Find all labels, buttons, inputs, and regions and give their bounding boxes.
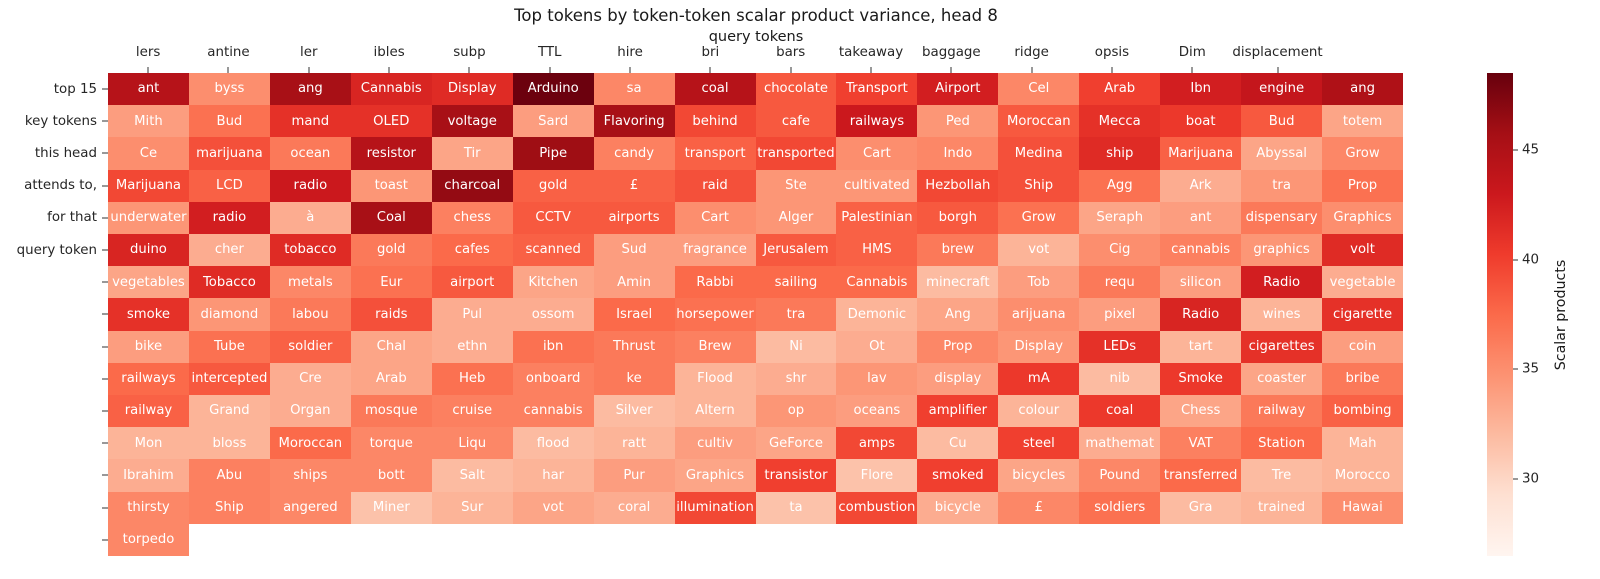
- x-axis-tick-labels: lersantineleriblessubpTTLhirebribarstake…: [108, 45, 1403, 73]
- heatmap-cell: toast: [351, 170, 432, 202]
- heatmap-cell-token: ibn: [543, 340, 563, 353]
- x-tick-label: lers: [108, 45, 188, 60]
- heatmap-cell: ibn: [513, 331, 594, 363]
- heatmap-cell: Cart: [675, 202, 756, 234]
- heatmap-cell: Bud: [189, 105, 270, 137]
- heatmap-cell-token: tra: [787, 308, 806, 321]
- heatmap-cell: candy: [594, 137, 675, 169]
- heatmap-cell: ta: [756, 492, 837, 524]
- heatmap-cell-token: Altern: [695, 404, 735, 417]
- heatmap-cell-token: Ship: [215, 501, 244, 514]
- heatmap-cell: cultiv: [675, 427, 756, 459]
- colorbar-label-text: Scalar products: [1553, 259, 1569, 369]
- heatmap-cell-token: Transport: [846, 82, 908, 95]
- y-tick-5: query token: [0, 234, 108, 266]
- heatmap-cell-token: amplifier: [929, 404, 987, 417]
- heatmap-cell: Hawai: [1322, 492, 1403, 524]
- heatmap-cell-token: vot: [1028, 243, 1049, 256]
- y-tick-label: attends to,: [24, 178, 97, 193]
- heatmap-cell: railway: [1241, 395, 1322, 427]
- heatmap-cell: Graphics: [675, 459, 756, 491]
- heatmap-cell-token: wines: [1263, 308, 1301, 321]
- heatmap-cell-token: ships: [293, 469, 327, 482]
- heatmap-cell: tart: [1160, 331, 1241, 363]
- heatmap-cell-token: Radio: [1182, 308, 1219, 321]
- heatmap-cell: Miner: [351, 492, 432, 524]
- heatmap-cell-token: ta: [789, 501, 802, 514]
- heatmap-cell: mand: [270, 105, 351, 137]
- heatmap-cell: Marijuana: [108, 170, 189, 202]
- heatmap-cell-token: OLED: [373, 115, 409, 128]
- heatmap-cell-token: graphics: [1253, 243, 1309, 256]
- colorbar-tick-0: 30: [1513, 472, 1539, 487]
- heatmap-cell: scanned: [513, 234, 594, 266]
- heatmap-cell-token: coaster: [1257, 372, 1306, 385]
- heatmap-cell-token: Ibn: [1190, 82, 1211, 95]
- heatmap-cell: railways: [836, 105, 917, 137]
- heatmap-cell: dispensary: [1241, 202, 1322, 234]
- heatmap-cell-token: arijuana: [1012, 308, 1066, 321]
- heatmap-cell-token: bicycles: [1012, 469, 1065, 482]
- heatmap-cell: transport: [675, 137, 756, 169]
- heatmap-cell: Pipe: [513, 137, 594, 169]
- heatmap-cell: Cannabis: [351, 73, 432, 105]
- heatmap-cell: transistor: [756, 459, 837, 491]
- heatmap-cell-token: Amin: [617, 276, 651, 289]
- heatmap-cell-token: smoked: [932, 469, 983, 482]
- heatmap-cell-token: combustion: [838, 501, 915, 514]
- heatmap-cell-token: display: [934, 372, 981, 385]
- heatmap-cell: CCTV: [513, 202, 594, 234]
- heatmap-cell-token: Sard: [538, 115, 568, 128]
- heatmap-cell: Flore: [836, 459, 917, 491]
- heatmap-cell: Ship: [189, 492, 270, 524]
- heatmap-cell: Tob: [998, 266, 1079, 298]
- heatmap-cell-token: silicon: [1180, 276, 1222, 289]
- heatmap-cell: Mah: [1322, 427, 1403, 459]
- heatmap-cell: fragrance: [675, 234, 756, 266]
- heatmap-cell-token: marijuana: [196, 147, 263, 160]
- heatmap-cell: bicycles: [998, 459, 1079, 491]
- heatmap-cell-token: Pipe: [539, 147, 567, 160]
- heatmap-cell: thirsty: [108, 492, 189, 524]
- heatmap-cell: Thrust: [594, 331, 675, 363]
- heatmap-cell: sa: [594, 73, 675, 105]
- heatmap-cell: tra: [756, 298, 837, 330]
- heatmap-cell: Israel: [594, 298, 675, 330]
- heatmap-cell: LCD: [189, 170, 270, 202]
- heatmap-cell-token: behind: [692, 115, 737, 128]
- heatmap-cell-token: gold: [539, 179, 567, 192]
- heatmap-cell: Graphics: [1322, 202, 1403, 234]
- heatmap-cell: chess: [432, 202, 513, 234]
- heatmap-cell: Mon: [108, 427, 189, 459]
- heatmap-cell: Tir: [432, 137, 513, 169]
- heatmap-cell-token: Liqu: [458, 437, 486, 450]
- x-tick-label: antine: [188, 45, 268, 60]
- heatmap-cell-token: Cre: [299, 372, 321, 385]
- heatmap-cell: silicon: [1160, 266, 1241, 298]
- heatmap-cell-token: Ped: [946, 115, 970, 128]
- heatmap-cell: Grand: [189, 395, 270, 427]
- heatmap-cell-token: thirsty: [127, 501, 169, 514]
- heatmap-cell-token: trained: [1258, 501, 1305, 514]
- heatmap-cell-token: Cu: [949, 437, 967, 450]
- colorbar-axis-label: Scalar products: [1551, 73, 1571, 556]
- heatmap-cell-token: Heb: [459, 372, 485, 385]
- heatmap-cell-token: Grand: [209, 404, 249, 417]
- heatmap-cell: borgh: [917, 202, 998, 234]
- heatmap-cell-token: tobacco: [284, 243, 336, 256]
- heatmap-cell: mathemat: [1079, 427, 1160, 459]
- heatmap-cell: gold: [351, 234, 432, 266]
- heatmap-cell-token: torpedo: [123, 533, 175, 546]
- heatmap-cell-token: shr: [786, 372, 807, 385]
- heatmap-cell: vegetable: [1322, 266, 1403, 298]
- y-tick-label: top 15: [54, 82, 97, 97]
- heatmap-cell: combustion: [836, 492, 917, 524]
- heatmap-cell-token: cigarettes: [1249, 340, 1315, 353]
- heatmap-cell-token: Grow: [1022, 211, 1056, 224]
- heatmap-cell: Ibrahim: [108, 459, 189, 491]
- heatmap-cell: underwater: [108, 202, 189, 234]
- heatmap-cell: Morocco: [1322, 459, 1403, 491]
- heatmap-cell-token: candy: [614, 147, 654, 160]
- heatmap-cell: brew: [917, 234, 998, 266]
- heatmap-cell: transported: [756, 137, 837, 169]
- heatmap-cell: Organ: [270, 395, 351, 427]
- heatmap-cell-token: intercepted: [191, 372, 267, 385]
- heatmap-cell-token: Organ: [290, 404, 330, 417]
- heatmap-cell-token: cannabis: [524, 404, 583, 417]
- heatmap-cell: Sud: [594, 234, 675, 266]
- heatmap-cell: Pound: [1079, 459, 1160, 491]
- heatmap-cell: Mith: [108, 105, 189, 137]
- heatmap-cell: Arab: [1079, 73, 1160, 105]
- heatmap-cell: har: [513, 459, 594, 491]
- heatmap-cell: totem: [1322, 105, 1403, 137]
- x-tick-label: TTL: [510, 45, 590, 60]
- heatmap-cell: Ot: [836, 331, 917, 363]
- heatmap-cell: raids: [351, 298, 432, 330]
- heatmap-cell-token: Tir: [464, 147, 481, 160]
- heatmap-cell-token: Eur: [380, 276, 402, 289]
- heatmap-cell: vot: [998, 234, 1079, 266]
- heatmap-cell-token: oceans: [854, 404, 901, 417]
- y-tick-14: [0, 524, 108, 556]
- heatmap-cell: Arduino: [513, 73, 594, 105]
- heatmap-cell: Radio: [1160, 298, 1241, 330]
- heatmap-cell: amps: [836, 427, 917, 459]
- heatmap-cell-token: ang: [298, 82, 323, 95]
- heatmap-cell-token: Station: [1258, 437, 1305, 450]
- heatmap-cell: trained: [1241, 492, 1322, 524]
- heatmap-cell: Marijuana: [1160, 137, 1241, 169]
- heatmap-cell-token: cafes: [455, 243, 490, 256]
- heatmap-cell: Palestinian: [836, 202, 917, 234]
- heatmap-cell-token: diamond: [201, 308, 259, 321]
- heatmap-cell: Agg: [1079, 170, 1160, 202]
- x-tick-label: hire: [590, 45, 670, 60]
- heatmap-cell-token: cultivated: [844, 179, 910, 192]
- heatmap-cell: charcoal: [432, 170, 513, 202]
- y-tick-0: top 15: [0, 73, 108, 105]
- heatmap-cell-token: Abyssal: [1256, 147, 1307, 160]
- x-tick-10: baggage: [911, 45, 991, 73]
- heatmap-cell: Hezbollah: [917, 170, 998, 202]
- heatmap-cell: ossom: [513, 298, 594, 330]
- heatmap-cell: Cu: [917, 427, 998, 459]
- heatmap-cell-token: flood: [537, 437, 570, 450]
- heatmap-cell: tra: [1241, 170, 1322, 202]
- heatmap-cell-token: £: [630, 179, 638, 192]
- heatmap-cell: volt: [1322, 234, 1403, 266]
- heatmap-cell-token: toast: [375, 179, 408, 192]
- heatmap-cell-token: smoke: [127, 308, 170, 321]
- x-tick-11: ridge: [991, 45, 1071, 73]
- heatmap-cell-token: torque: [370, 437, 413, 450]
- heatmap-cell-token: GeForce: [769, 437, 823, 450]
- heatmap-cell: nib: [1079, 363, 1160, 395]
- heatmap-cell-token: LEDs: [1103, 340, 1136, 353]
- heatmap-cell-token: minecraft: [926, 276, 989, 289]
- heatmap-cell-token: Flavoring: [604, 115, 665, 128]
- heatmap-cell-token: engine: [1259, 82, 1304, 95]
- heatmap-cell: wines: [1241, 298, 1322, 330]
- heatmap-cell-token: Kitchen: [528, 276, 578, 289]
- heatmap-cell-token: Display: [1014, 340, 1063, 353]
- heatmap-cell-token: Prop: [1348, 179, 1377, 192]
- heatmap-cell-token: railways: [850, 115, 904, 128]
- heatmap-cell: Display: [432, 73, 513, 105]
- y-tick-2: this head: [0, 137, 108, 169]
- x-tick-6: hire: [590, 45, 670, 73]
- heatmap-cell: cigarettes: [1241, 331, 1322, 363]
- heatmap-cell-token: Tre: [1272, 469, 1291, 482]
- y-tick-label: query token: [17, 243, 97, 258]
- y-tick-11: [0, 427, 108, 459]
- heatmap-cell-token: raid: [702, 179, 728, 192]
- heatmap-cell: Ship: [998, 170, 1079, 202]
- heatmap-cell: Grow: [998, 202, 1079, 234]
- heatmap-cell: Cannabis: [836, 266, 917, 298]
- heatmap-cell-token: Medina: [1015, 147, 1063, 160]
- heatmap-cell: Display: [998, 331, 1079, 363]
- heatmap-cell-token: Mah: [1349, 437, 1377, 450]
- heatmap-cell: Kitchen: [513, 266, 594, 298]
- heatmap-cell-token: Cart: [701, 211, 729, 224]
- heatmap-cell-token: Radio: [1263, 276, 1300, 289]
- heatmap-cell: Airport: [917, 73, 998, 105]
- heatmap-cell: soldier: [270, 331, 351, 363]
- heatmap-cell: LEDs: [1079, 331, 1160, 363]
- heatmap-cell-token: ethn: [457, 340, 487, 353]
- heatmap-cell: horsepower: [675, 298, 756, 330]
- heatmap-cell: smoked: [917, 459, 998, 491]
- heatmap-cell-token: byss: [214, 82, 244, 95]
- colorbar-tick-label: 45: [1522, 142, 1539, 157]
- heatmap-cell-token: cruise: [452, 404, 492, 417]
- heatmap-cell-token: volt: [1350, 243, 1375, 256]
- heatmap-cell-token: Sur: [461, 501, 483, 514]
- heatmap-cell: ant: [1160, 202, 1241, 234]
- heatmap-cell: Rabbi: [675, 266, 756, 298]
- heatmap-cell: Seraph: [1079, 202, 1160, 234]
- heatmap-cell-token: angered: [283, 501, 338, 514]
- x-axis-title: query tokens: [0, 29, 1512, 45]
- heatmap-cell-token: Mith: [134, 115, 163, 128]
- heatmap-grid: antbyssangCannabisDisplayArduinosacoalch…: [108, 73, 1403, 556]
- heatmap-cell: coal: [1079, 395, 1160, 427]
- heatmap-cell: torque: [351, 427, 432, 459]
- heatmap-cell-token: sa: [627, 82, 642, 95]
- heatmap-cell: soldiers: [1079, 492, 1160, 524]
- heatmap-cell: op: [756, 395, 837, 427]
- heatmap-cell: amplifier: [917, 395, 998, 427]
- heatmap-cell: Coal: [351, 202, 432, 234]
- heatmap-cell-token: vot: [543, 501, 564, 514]
- heatmap-cell: radio: [270, 170, 351, 202]
- heatmap-cell: labou: [270, 298, 351, 330]
- heatmap-cell: diamond: [189, 298, 270, 330]
- heatmap-cell-token: Bud: [217, 115, 243, 128]
- heatmap-cell-token: tra: [1272, 179, 1291, 192]
- heatmap-cell-token: coal: [1106, 404, 1133, 417]
- heatmap-cell-token: Ibrahim: [123, 469, 174, 482]
- heatmap-cell-token: bicycle: [935, 501, 981, 514]
- heatmap-cell: mosque: [351, 395, 432, 427]
- x-tick-label: bri: [670, 45, 750, 60]
- colorbar-tick-2: 40: [1513, 252, 1539, 267]
- heatmap-cell-token: charcoal: [444, 179, 500, 192]
- heatmap-cell-token: lav: [867, 372, 887, 385]
- heatmap-cell: Abyssal: [1241, 137, 1322, 169]
- heatmap-cell: Tube: [189, 331, 270, 363]
- heatmap-cell: Arab: [351, 363, 432, 395]
- heatmap-cell: Ni: [756, 331, 837, 363]
- heatmap-cell: Flavoring: [594, 105, 675, 137]
- heatmap-cell: radio: [189, 202, 270, 234]
- heatmap-cell: byss: [189, 73, 270, 105]
- heatmap-cell-token: VAT: [1189, 437, 1213, 450]
- heatmap-cell-token: Silver: [616, 404, 653, 417]
- heatmap-cell-token: Cart: [863, 147, 891, 160]
- heatmap-cell-token: har: [542, 469, 564, 482]
- heatmap-cell: torpedo: [108, 524, 189, 556]
- x-tick-13: Dim: [1152, 45, 1232, 73]
- heatmap-cell: Abu: [189, 459, 270, 491]
- heatmap-cell-token: chocolate: [764, 82, 828, 95]
- heatmap-cell-token: Ste: [785, 179, 807, 192]
- heatmap-cell-token: Abu: [217, 469, 243, 482]
- heatmap-cell-token: Smoke: [1178, 372, 1223, 385]
- heatmap-cell-token: amps: [859, 437, 895, 450]
- x-tick-3: ibles: [349, 45, 429, 73]
- heatmap-cell-token: Arab: [1104, 82, 1135, 95]
- heatmap-cell-token: mathemat: [1085, 437, 1154, 450]
- heatmap-cell-token: HMS: [862, 243, 892, 256]
- heatmap-cell: Ibn: [1160, 73, 1241, 105]
- heatmap-cell-token: Pur: [623, 469, 645, 482]
- heatmap-cell: Brew: [675, 331, 756, 363]
- heatmap-cell-token: Tobacco: [203, 276, 256, 289]
- heatmap-cell: Mecca: [1079, 105, 1160, 137]
- heatmap-cell: duino: [108, 234, 189, 266]
- heatmap-cell-token: Sud: [622, 243, 647, 256]
- heatmap-cell: Bud: [1241, 105, 1322, 137]
- heatmap-cell-token: resistor: [367, 147, 416, 160]
- colorbar: 30354045: [1487, 73, 1513, 556]
- heatmap-cell-token: ant: [138, 82, 160, 95]
- heatmap-cell-token: Ce: [140, 147, 157, 160]
- y-tick-8: [0, 331, 108, 363]
- heatmap-cell: engine: [1241, 73, 1322, 105]
- heatmap-cell-token: nib: [1110, 372, 1130, 385]
- colorbar-tick-3: 45: [1513, 142, 1539, 157]
- heatmap-cell-token: raids: [375, 308, 407, 321]
- heatmap-cell-token: ship: [1106, 147, 1133, 160]
- heatmap-cell-token: Indo: [944, 147, 973, 160]
- heatmap-cell: Altern: [675, 395, 756, 427]
- heatmap-cell: Radio: [1241, 266, 1322, 298]
- heatmap-cell: Tobacco: [189, 266, 270, 298]
- heatmap-cell-token: Thrust: [613, 340, 655, 353]
- heatmap-cell-token: mand: [292, 115, 330, 128]
- heatmap-cell-token: Marijuana: [1168, 147, 1233, 160]
- heatmap-cell: Ce: [108, 137, 189, 169]
- y-tick-6: [0, 266, 108, 298]
- heatmap-cell-token: underwater: [110, 211, 186, 224]
- heatmap-cell: transferred: [1160, 459, 1241, 491]
- heatmap-cell-token: gold: [377, 243, 405, 256]
- heatmap-cell: Heb: [432, 363, 513, 395]
- heatmap-cell-token: Rabbi: [696, 276, 733, 289]
- heatmap-cell-token: Airport: [935, 82, 980, 95]
- x-tick-label: subp: [429, 45, 509, 60]
- heatmap-cell: cannabis: [1160, 234, 1241, 266]
- heatmap-cell-token: bike: [135, 340, 162, 353]
- heatmap-cell: arijuana: [998, 298, 1079, 330]
- heatmap-cell: requ: [1079, 266, 1160, 298]
- y-tick-9: [0, 363, 108, 395]
- y-axis-tick-labels: top 15key tokensthis headattends to,for …: [0, 73, 108, 556]
- heatmap-cell: Flood: [675, 363, 756, 395]
- heatmap-cell-token: Ang: [945, 308, 971, 321]
- heatmap-cell: cigarette: [1322, 298, 1403, 330]
- heatmap-cell-token: Moroccan: [1007, 115, 1071, 128]
- colorbar-tick-mark: [1513, 369, 1518, 370]
- heatmap-cell: vot: [513, 492, 594, 524]
- heatmap-cell: Ark: [1160, 170, 1241, 202]
- heatmap-cell-token: horsepower: [676, 308, 754, 321]
- heatmap-cell: Gra: [1160, 492, 1241, 524]
- heatmap-cell-token: fragrance: [683, 243, 747, 256]
- heatmap-cell: Chal: [351, 331, 432, 363]
- heatmap-cell: Indo: [917, 137, 998, 169]
- heatmap-cell: Moroccan: [998, 105, 1079, 137]
- x-tick-5: TTL: [510, 45, 590, 73]
- heatmap-cell-token: ratt: [622, 437, 646, 450]
- heatmap-cell-token: coral: [618, 501, 651, 514]
- heatmap-cell: Cart: [836, 137, 917, 169]
- heatmap-cell: voltage: [432, 105, 513, 137]
- y-tick-label: for that: [47, 210, 97, 225]
- heatmap-cell: Tre: [1241, 459, 1322, 491]
- x-tick-2: ler: [269, 45, 349, 73]
- heatmap-cell: intercepted: [189, 363, 270, 395]
- heatmap-cell-token: Jerusalem: [763, 243, 828, 256]
- heatmap-cell-token: à: [306, 211, 314, 224]
